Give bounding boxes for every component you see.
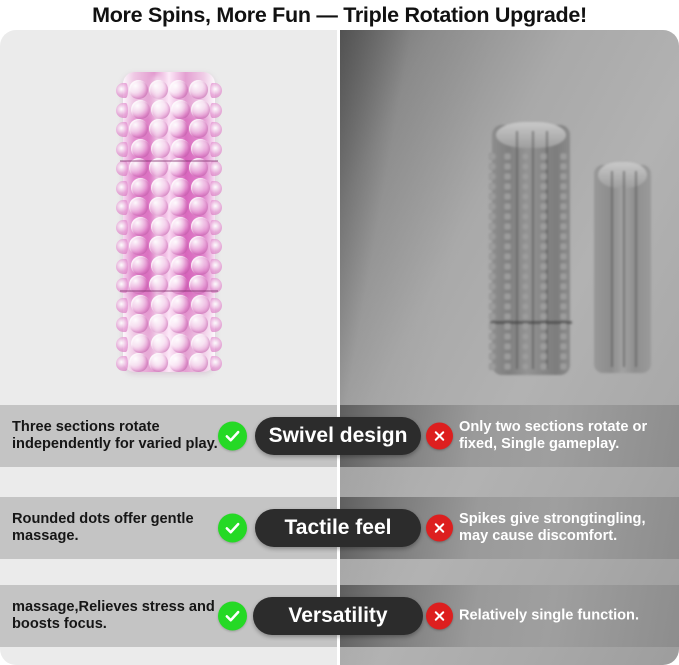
sleeve-edge-bump xyxy=(116,103,128,118)
con-text: Only two sections rotate or fixed, Singl… xyxy=(459,419,677,453)
sleeve-edge-bump xyxy=(210,83,222,98)
grey-spike xyxy=(560,203,567,210)
grey-spike xyxy=(522,153,529,160)
grey-spike xyxy=(489,283,496,290)
sleeve-edge-bump xyxy=(210,220,222,235)
sleeve-nub xyxy=(189,80,208,99)
sleeve-nub xyxy=(171,295,190,314)
grey-spike xyxy=(504,153,511,160)
grey-spike xyxy=(489,213,496,220)
sleeve-edge-bump xyxy=(210,103,222,118)
sleeve-nub xyxy=(131,100,150,119)
grey-spike xyxy=(489,173,496,180)
grey-spike xyxy=(540,193,547,200)
feature-badge: Tactile feel xyxy=(255,509,421,547)
sleeve-nub xyxy=(171,334,190,353)
sleeve-nub xyxy=(191,178,210,197)
grey-spike xyxy=(522,323,529,330)
grey-spike xyxy=(489,353,496,360)
grey-spike xyxy=(489,303,496,310)
sleeve-edge-bump xyxy=(116,122,128,137)
grey-spike xyxy=(489,323,496,330)
grey-spike xyxy=(489,193,496,200)
grey-spike xyxy=(560,273,567,280)
grey-spike xyxy=(540,283,547,290)
grey-spike xyxy=(560,223,567,230)
grey-spike xyxy=(522,363,529,370)
grey-spike xyxy=(560,153,567,160)
grey-spike xyxy=(540,243,547,250)
sleeve-edge-bump xyxy=(116,239,128,254)
grey-spike xyxy=(560,343,567,350)
grey-spike xyxy=(522,173,529,180)
grey-spike xyxy=(522,243,529,250)
sleeve-edge-bump xyxy=(116,298,128,313)
grey-spike xyxy=(540,213,547,220)
sleeve-nub-texture xyxy=(123,72,215,372)
sleeve-nub xyxy=(171,178,190,197)
sleeve-nub xyxy=(129,353,148,372)
grey-spike xyxy=(540,263,547,270)
sleeve-nub xyxy=(129,197,148,216)
sleeve-edge-bump xyxy=(210,181,222,196)
pro-text: massage,Relieves stress and boosts focus… xyxy=(12,599,220,633)
comparison-row: Three sections rotate independently for … xyxy=(0,405,679,467)
sleeve-edge-bump xyxy=(116,259,128,274)
sleeve-nub xyxy=(171,256,190,275)
grey-spike xyxy=(489,263,496,270)
sleeve-nub xyxy=(191,100,210,119)
grey-spike xyxy=(540,303,547,310)
grey-spike xyxy=(504,283,511,290)
comparison-row: Rounded dots offer gentle massage. Spike… xyxy=(0,497,679,559)
grey-product-ridge xyxy=(623,171,625,367)
grey-spike xyxy=(560,193,567,200)
grey-spike xyxy=(560,323,567,330)
sleeve-edge-bump xyxy=(210,200,222,215)
grey-spike xyxy=(522,273,529,280)
sleeve-edge-bump xyxy=(210,122,222,137)
sleeve-edge-bump xyxy=(210,317,222,332)
grey-spike xyxy=(504,183,511,190)
grey-spike xyxy=(560,173,567,180)
grey-spike xyxy=(540,203,547,210)
sleeve-section-seam xyxy=(120,290,218,292)
grey-spike xyxy=(489,243,496,250)
sleeve-nub xyxy=(191,139,210,158)
pink-sleeve-product-image xyxy=(123,72,215,372)
grey-spike xyxy=(522,303,529,310)
grey-spike xyxy=(522,343,529,350)
grey-spike xyxy=(489,203,496,210)
sleeve-edge-bump xyxy=(116,161,128,176)
grey-spike xyxy=(522,283,529,290)
sleeve-nub xyxy=(191,256,210,275)
grey-product-ridge xyxy=(611,171,613,367)
grey-spike xyxy=(504,263,511,270)
grey-spike xyxy=(522,223,529,230)
sleeve-nub xyxy=(189,314,208,333)
grey-spike xyxy=(489,253,496,260)
grey-spike xyxy=(489,293,496,300)
sleeve-nub xyxy=(171,217,190,236)
grey-spike xyxy=(540,343,547,350)
grey-spike xyxy=(540,253,547,260)
grey-spike xyxy=(504,333,511,340)
grey-spike xyxy=(489,273,496,280)
grey-spike xyxy=(504,173,511,180)
grey-spike xyxy=(540,173,547,180)
grey-spike xyxy=(560,163,567,170)
sleeve-edge-bump xyxy=(210,259,222,274)
grey-spike xyxy=(489,153,496,160)
grey-spike xyxy=(489,163,496,170)
sleeve-nub xyxy=(189,119,208,138)
grey-spike xyxy=(522,183,529,190)
right-hero-image xyxy=(340,30,679,405)
grey-spike xyxy=(504,313,511,320)
sleeve-nub xyxy=(191,334,210,353)
sleeve-nub xyxy=(169,353,188,372)
sleeve-edge-bump xyxy=(116,181,128,196)
sleeve-nub xyxy=(131,295,150,314)
grey-spike xyxy=(540,293,547,300)
grey-smooth-product-image xyxy=(594,165,651,373)
grey-spike xyxy=(522,313,529,320)
grey-spike xyxy=(522,213,529,220)
feature-badge: Versatility xyxy=(253,597,423,635)
grey-spike xyxy=(522,203,529,210)
con-text: Spikes give strongtingling, may cause di… xyxy=(459,511,677,545)
grey-spike xyxy=(504,193,511,200)
sleeve-nub xyxy=(191,217,210,236)
grey-spike xyxy=(560,293,567,300)
sleeve-edge-bump xyxy=(210,142,222,157)
grey-spike xyxy=(540,353,547,360)
grey-spike xyxy=(522,333,529,340)
left-hero-image xyxy=(0,30,337,405)
sleeve-edge-bump xyxy=(210,239,222,254)
sleeve-edge-bump xyxy=(116,356,128,371)
grey-spike xyxy=(522,163,529,170)
grey-spike xyxy=(489,183,496,190)
sleeve-nub xyxy=(131,139,150,158)
sleeve-nub xyxy=(171,139,190,158)
sleeve-nub xyxy=(169,119,188,138)
grey-spike xyxy=(504,343,511,350)
cross-circle-icon xyxy=(426,423,453,450)
grey-spike xyxy=(504,243,511,250)
sleeve-nub xyxy=(131,217,150,236)
sleeve-edge-bump xyxy=(116,317,128,332)
grey-spike xyxy=(560,183,567,190)
sleeve-nub xyxy=(189,197,208,216)
pro-text: Three sections rotate independently for … xyxy=(12,419,220,453)
sleeve-nub xyxy=(169,80,188,99)
sleeve-edge-bump xyxy=(116,200,128,215)
grey-spike xyxy=(540,183,547,190)
sleeve-highlight xyxy=(149,76,165,368)
grey-spike xyxy=(522,353,529,360)
grey-spike xyxy=(540,333,547,340)
comparison-rows: Three sections rotate independently for … xyxy=(0,405,679,660)
check-circle-icon xyxy=(218,602,247,631)
sleeve-nub xyxy=(169,197,188,216)
check-circle-icon xyxy=(218,514,247,543)
con-text: Relatively single function. xyxy=(459,607,677,624)
check-circle-icon xyxy=(218,422,247,451)
sleeve-nub xyxy=(129,80,148,99)
grey-spike xyxy=(522,293,529,300)
grey-spike xyxy=(560,363,567,370)
grey-spike xyxy=(504,273,511,280)
grey-spike xyxy=(504,323,511,330)
grey-spike xyxy=(560,303,567,310)
grey-spike xyxy=(522,193,529,200)
grey-spike xyxy=(504,223,511,230)
grey-spike xyxy=(540,323,547,330)
grey-spike xyxy=(560,253,567,260)
grey-spike xyxy=(504,253,511,260)
grey-spike xyxy=(560,313,567,320)
grey-spike xyxy=(504,233,511,240)
sleeve-nub xyxy=(189,236,208,255)
sleeve-edge-bump xyxy=(116,337,128,352)
grey-spike xyxy=(489,313,496,320)
grey-spike xyxy=(560,333,567,340)
grey-spike xyxy=(540,153,547,160)
cross-circle-icon xyxy=(426,515,453,542)
grey-spike xyxy=(504,363,511,370)
feature-badge: Swivel design xyxy=(255,417,421,455)
grey-spike xyxy=(560,233,567,240)
sleeve-edge-bump xyxy=(116,142,128,157)
sleeve-edge-bump xyxy=(210,161,222,176)
comparison-row: massage,Relieves stress and boosts focus… xyxy=(0,585,679,647)
sleeve-edge-bump xyxy=(210,337,222,352)
sleeve-nub xyxy=(129,236,148,255)
grey-spike xyxy=(504,303,511,310)
grey-spike xyxy=(522,233,529,240)
grey-spike-texture xyxy=(492,125,570,375)
grey-spike xyxy=(504,353,511,360)
grey-spike xyxy=(560,243,567,250)
sleeve-nub xyxy=(129,119,148,138)
grey-spike xyxy=(522,253,529,260)
grey-spike xyxy=(504,213,511,220)
sleeve-nub xyxy=(171,100,190,119)
grey-spike xyxy=(540,223,547,230)
cross-circle-icon xyxy=(426,603,453,630)
grey-spike xyxy=(540,313,547,320)
pro-text: Rounded dots offer gentle massage. xyxy=(12,511,220,545)
grey-spike xyxy=(560,213,567,220)
comparison-infographic: More Spins, More Fun — Triple Rotation U… xyxy=(0,0,679,665)
grey-spike xyxy=(540,363,547,370)
grey-product-ridge xyxy=(635,171,637,367)
grey-spike xyxy=(504,203,511,210)
grey-spike xyxy=(489,363,496,370)
grey-spike xyxy=(540,273,547,280)
sleeve-nub xyxy=(169,314,188,333)
sleeve-nub xyxy=(191,295,210,314)
grey-spike xyxy=(560,353,567,360)
grey-spike xyxy=(504,293,511,300)
sleeve-nub xyxy=(131,178,150,197)
grey-spike xyxy=(560,263,567,270)
grey-spike xyxy=(489,333,496,340)
sleeve-nub xyxy=(169,236,188,255)
sleeve-edge-bump xyxy=(116,220,128,235)
sleeve-edge-bump xyxy=(116,83,128,98)
sleeve-section-seam xyxy=(120,160,218,162)
sleeve-edge-bump xyxy=(210,356,222,371)
sleeve-nub xyxy=(131,256,150,275)
grey-spike xyxy=(522,263,529,270)
grey-spike xyxy=(560,283,567,290)
sleeve-nub xyxy=(131,334,150,353)
grey-spike xyxy=(504,163,511,170)
grey-spiked-product-image xyxy=(492,125,570,375)
sleeve-nub xyxy=(129,314,148,333)
grey-spike xyxy=(540,233,547,240)
sleeve-edge-bump xyxy=(210,298,222,313)
page-title: More Spins, More Fun — Triple Rotation U… xyxy=(0,0,679,30)
grey-spike xyxy=(489,223,496,230)
grey-spike xyxy=(489,233,496,240)
sleeve-nub xyxy=(189,353,208,372)
grey-spike xyxy=(540,163,547,170)
grey-spike xyxy=(489,343,496,350)
